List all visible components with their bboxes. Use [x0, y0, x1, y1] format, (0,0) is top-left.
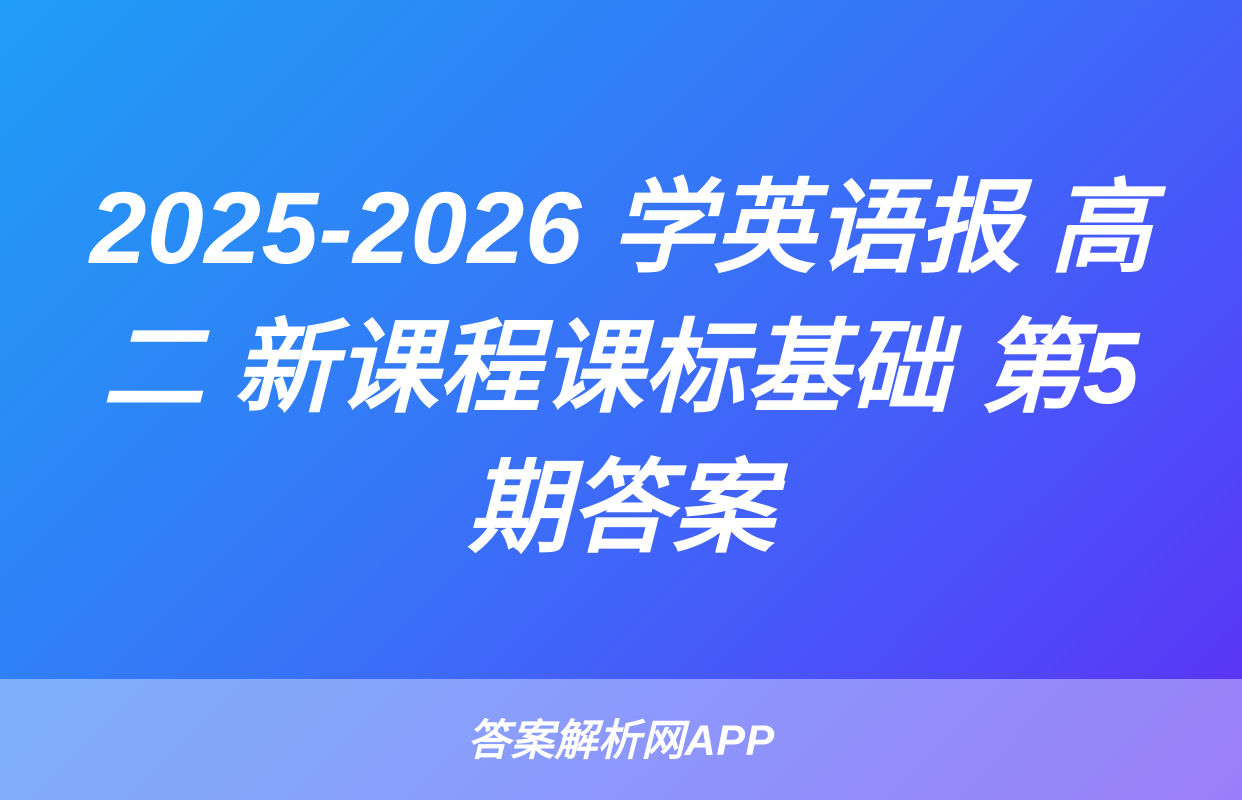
- watermark-label: 答案解析网APP: [467, 720, 774, 763]
- poster-card: 2025-2026 学英语报 高 二 新课程课标基础 第5 期答案 答案解析网A…: [0, 0, 1242, 800]
- title-line-1: 2025-2026 学英语报 高: [56, 158, 1186, 298]
- page-title: 2025-2026 学英语报 高 二 新课程课标基础 第5 期答案: [0, 158, 1242, 578]
- title-line-3: 期答案: [56, 438, 1186, 578]
- watermark-band: 答案解析网APP: [0, 679, 1242, 800]
- title-line-2: 二 新课程课标基础 第5: [56, 298, 1186, 438]
